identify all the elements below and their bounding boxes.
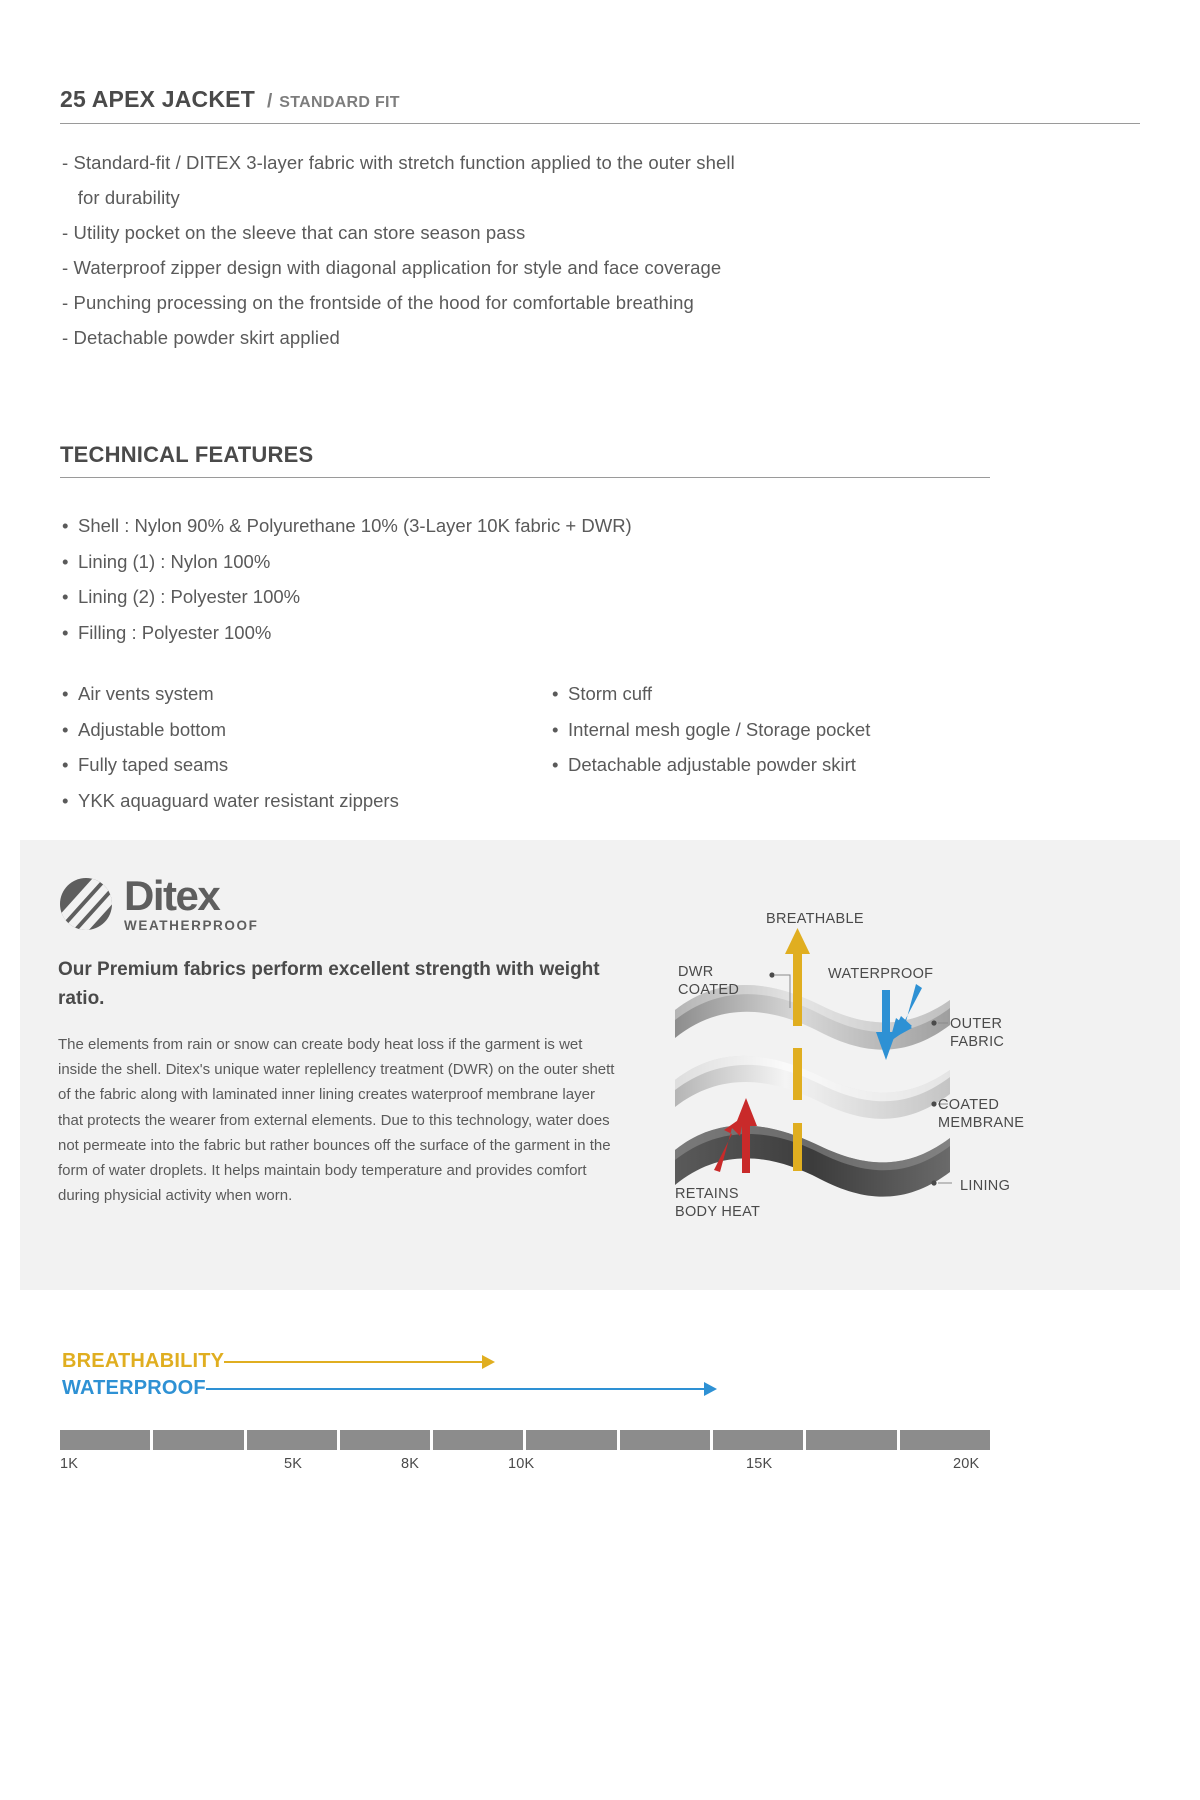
scale-bar	[60, 1430, 990, 1450]
tick-label: 15K	[746, 1456, 772, 1472]
bullet-icon: •	[62, 712, 78, 748]
waterproof-row: WATERPROOF	[62, 1377, 717, 1400]
ditex-headline: Our Premium fabrics perform excellent st…	[58, 955, 618, 1013]
description-list: - Standard-fit / DITEX 3-layer fabric wi…	[62, 145, 1062, 355]
bullet-icon: •	[552, 747, 568, 783]
section-heading: TECHNICAL FEATURES	[60, 442, 313, 467]
scale-segment	[713, 1430, 803, 1450]
scale-segment	[526, 1430, 616, 1450]
page-title: 25 APEX JACKET / STANDARD FIT	[60, 86, 1140, 124]
feature-column-left: •Air vents system •Adjustable bottom •Fu…	[62, 676, 552, 818]
bullet-icon: •	[62, 508, 78, 544]
tick-label: 10K	[508, 1456, 534, 1472]
waterproof-arrow-icon	[206, 1382, 717, 1396]
label-retains-body-heat: RETAINS BODY HEAT	[675, 1185, 760, 1221]
bullet-icon: •	[62, 783, 78, 819]
scale-tick-labels: 1K 5K 8K 10K 15K 20K	[60, 1456, 990, 1476]
feature-item: •YKK aquaguard water resistant zippers	[62, 783, 552, 819]
fit-type: STANDARD FIT	[279, 94, 400, 112]
tick-label: 5K	[284, 1456, 302, 1472]
ditex-body-text: The elements from rain or snow can creat…	[58, 1032, 618, 1208]
bullet-icon: •	[62, 615, 78, 651]
ditex-tagline: WEATHERPROOF	[124, 918, 258, 933]
material-label: Shell : Nylon 90% & Polyurethane 10% (3-…	[78, 515, 632, 536]
feature-label: Storm cuff	[568, 683, 652, 704]
feature-item: •Internal mesh gogle / Storage pocket	[552, 712, 1022, 748]
feature-item: •Air vents system	[62, 676, 552, 712]
breathability-arrow-icon	[224, 1355, 495, 1369]
product-spec-page: 25 APEX JACKET / STANDARD FIT - Standard…	[0, 0, 1200, 1800]
scale-segment	[806, 1430, 896, 1450]
label-breathable: BREATHABLE	[766, 910, 864, 928]
feature-label: Adjustable bottom	[78, 719, 226, 740]
material-label: Filling : Polyester 100%	[78, 622, 271, 643]
label-waterproof: WATERPROOF	[828, 965, 933, 983]
feature-label: Fully taped seams	[78, 754, 228, 775]
material-label: Lining (2) : Polyester 100%	[78, 586, 300, 607]
tick-label: 8K	[401, 1456, 419, 1472]
label-lining: LINING	[960, 1177, 1010, 1195]
bullet-icon: •	[62, 544, 78, 580]
feature-label: Internal mesh gogle / Storage pocket	[568, 719, 870, 740]
title-separator: /	[267, 91, 272, 113]
feature-item: •Detachable adjustable powder skirt	[552, 747, 1022, 783]
ditex-logo-icon	[60, 878, 112, 930]
material-item: •Lining (2) : Polyester 100%	[62, 579, 962, 615]
feature-item: •Adjustable bottom	[62, 712, 552, 748]
feature-item: •Storm cuff	[552, 676, 1022, 712]
description-item: - Punching processing on the frontside o…	[62, 285, 1062, 320]
description-item: - Standard-fit / DITEX 3-layer fabric wi…	[62, 145, 1062, 215]
ditex-wordmark: Ditex	[124, 875, 258, 917]
description-item: - Waterproof zipper design with diagonal…	[62, 250, 1062, 285]
bullet-icon: •	[62, 747, 78, 783]
feature-label: Detachable adjustable powder skirt	[568, 754, 856, 775]
material-item: •Lining (1) : Nylon 100%	[62, 544, 962, 580]
description-item: - Utility pocket on the sleeve that can …	[62, 215, 1062, 250]
label-dwr-coated: DWR COATED	[678, 963, 739, 999]
breathability-row: BREATHABILITY	[62, 1350, 495, 1373]
ditex-logo: Ditex WEATHERPROOF	[60, 875, 258, 933]
scale-segment	[247, 1430, 337, 1450]
feature-item: •Fully taped seams	[62, 747, 552, 783]
description-item: - Detachable powder skirt applied	[62, 320, 1062, 355]
feature-columns: •Air vents system •Adjustable bottom •Fu…	[62, 676, 1022, 818]
feature-label: Air vents system	[78, 683, 214, 704]
bullet-icon: •	[552, 712, 568, 748]
scale-segment	[620, 1430, 710, 1450]
material-item: •Filling : Polyester 100%	[62, 615, 962, 651]
waterproof-label: WATERPROOF	[62, 1377, 206, 1400]
breathability-label: BREATHABILITY	[62, 1350, 224, 1373]
scale-segment	[900, 1430, 990, 1450]
bullet-icon: •	[62, 676, 78, 712]
fabric-layer-diagram: BREATHABLE DWR COATED WATERPROOF OUTER F…	[620, 880, 1165, 1280]
scale-segment	[153, 1430, 243, 1450]
label-coated-membrane: COATED MEMBRANE	[938, 1096, 1024, 1132]
tick-label: 1K	[60, 1456, 78, 1472]
technical-features-header: TECHNICAL FEATURES	[60, 442, 990, 478]
material-item: •Shell : Nylon 90% & Polyurethane 10% (3…	[62, 508, 962, 544]
scale-segment	[60, 1430, 150, 1450]
ditex-panel: Ditex WEATHERPROOF Our Premium fabrics p…	[20, 840, 1180, 1290]
materials-list: •Shell : Nylon 90% & Polyurethane 10% (3…	[62, 508, 962, 650]
bullet-icon: •	[552, 676, 568, 712]
label-outer-fabric: OUTER FABRIC	[950, 1015, 1004, 1051]
material-label: Lining (1) : Nylon 100%	[78, 551, 270, 572]
feature-column-right: •Storm cuff •Internal mesh gogle / Stora…	[552, 676, 1022, 818]
product-name: 25 APEX JACKET	[60, 86, 255, 113]
scale-segment	[340, 1430, 430, 1450]
bullet-icon: •	[62, 579, 78, 615]
scale-segment	[433, 1430, 523, 1450]
tick-label: 20K	[953, 1456, 979, 1472]
feature-label: YKK aquaguard water resistant zippers	[78, 790, 399, 811]
